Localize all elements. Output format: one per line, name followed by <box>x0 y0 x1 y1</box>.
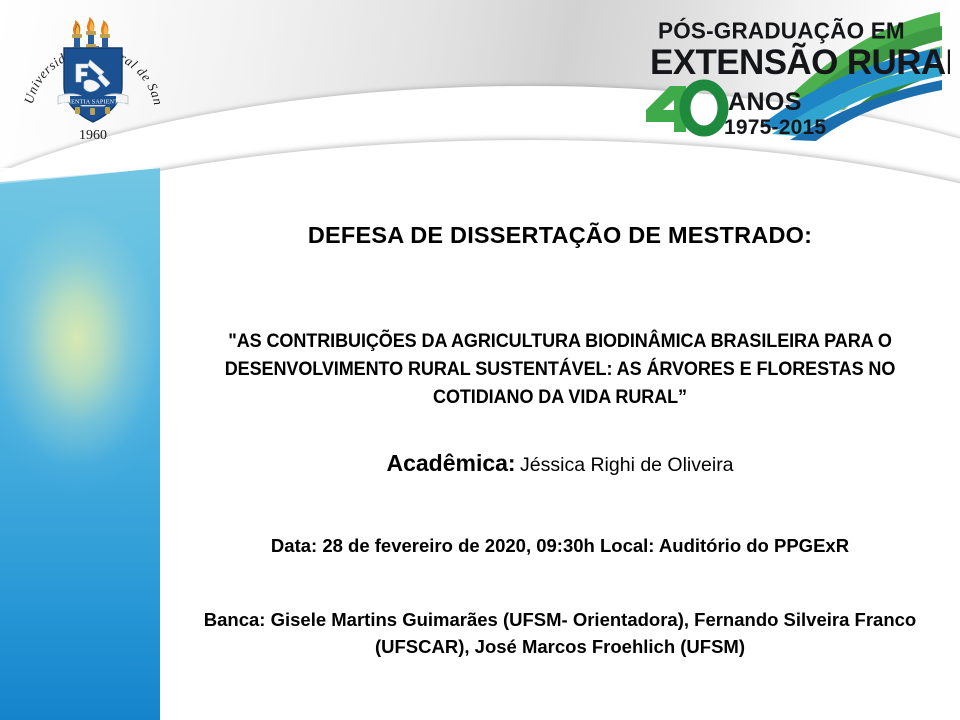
logo-anos-label: ANOS <box>728 88 802 116</box>
academic-name: Jéssica Righi de Oliveira <box>520 454 734 476</box>
thesis-title: "AS CONTRIBUIÇÕES DA AGRICULTURA BIODINÂ… <box>192 327 928 411</box>
slide-content: DEFESA DE DISSERTAÇÃO DE MESTRADO: "AS C… <box>160 210 960 720</box>
academic-label: Acadêmica: <box>386 450 515 476</box>
left-panel-gradient <box>0 168 160 720</box>
ufsm-torches <box>72 17 110 51</box>
ufsm-year-label: 1960 <box>79 128 107 143</box>
left-accent-panel <box>0 168 160 720</box>
presentation-slide: Universidade Federal de Santa Maria <box>0 0 960 720</box>
ppgexr-logo: PÓS-GRADUAÇÃO EM EXTENSÃO RURAL ANOS 197… <box>640 4 950 146</box>
svg-text:SCIENTIA SAPIENTIA: SCIENTIA SAPIENTIA <box>61 99 125 105</box>
date-and-location: Data: 28 de fevereiro de 2020, 09:30h Lo… <box>160 535 960 557</box>
logo-line1: PÓS-GRADUAÇÃO EM <box>658 17 905 43</box>
logo-anniversary: ANOS 1975-2015 <box>646 85 826 139</box>
page-title: DEFESA DE DISSERTAÇÃO DE MESTRADO: <box>160 222 960 249</box>
ufsm-shield: SCIENTIA SAPIENTIA <box>58 48 128 122</box>
logo-years-label: 1975-2015 <box>724 116 826 139</box>
academic-line: Acadêmica: Jéssica Righi de Oliveira <box>160 450 960 477</box>
examination-committee: Banca: Gisele Martins Guimarães (UFSM- O… <box>188 606 932 660</box>
logo-line2: EXTENSÃO RURAL <box>650 43 950 82</box>
ufsm-logo: Universidade Federal de Santa Maria <box>18 8 168 166</box>
